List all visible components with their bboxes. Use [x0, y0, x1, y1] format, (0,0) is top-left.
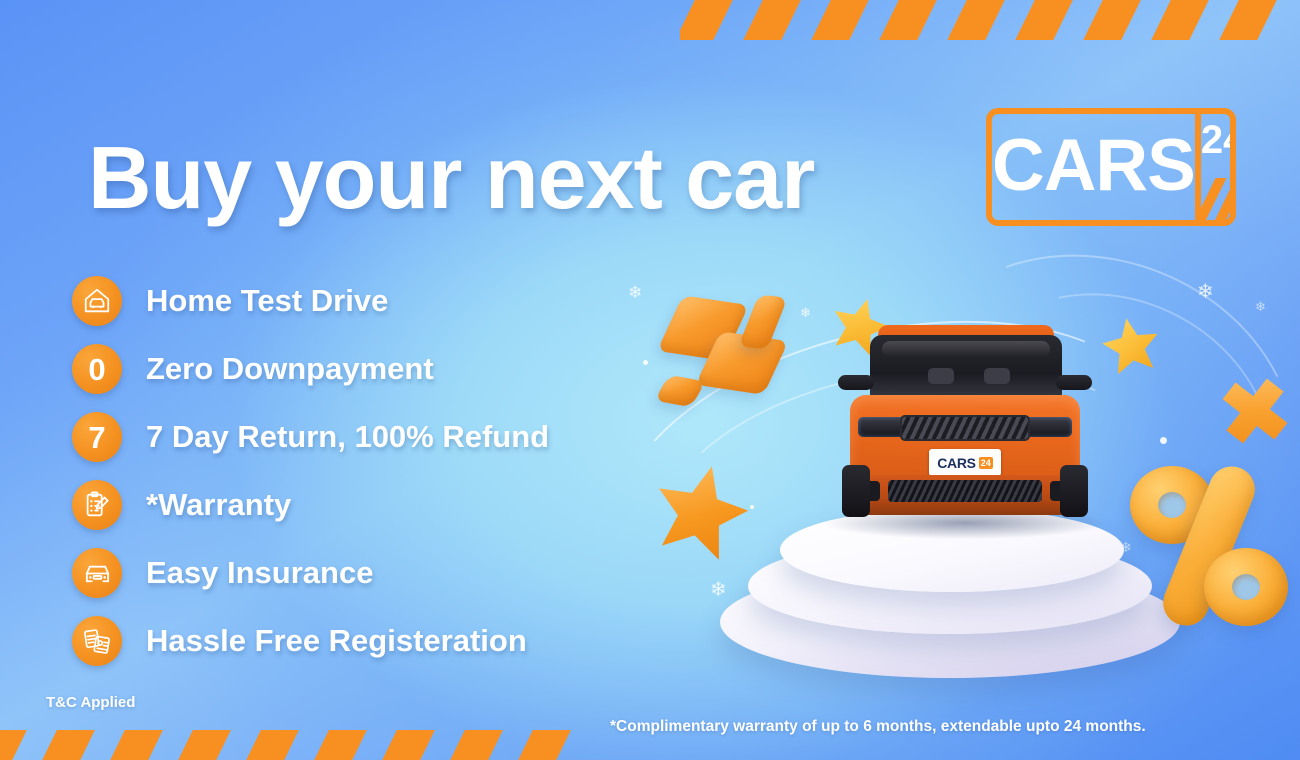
car-front-icon — [72, 548, 122, 598]
snowflake-icon: ❄ — [1255, 300, 1266, 313]
car-mirror-left — [838, 375, 874, 390]
list-item-label: Home Test Drive — [146, 283, 388, 319]
car-lower-grille — [888, 480, 1042, 502]
license-plate-number: 24 — [979, 457, 993, 469]
list-item: Hassle Free Registeration — [72, 613, 549, 669]
documents-icon — [72, 616, 122, 666]
sparkle-dot — [1160, 437, 1167, 444]
snowflake-icon: ❄ — [628, 284, 642, 301]
list-item-label: Easy Insurance — [146, 555, 373, 591]
list-item: Home Test Drive — [72, 273, 549, 329]
percent-symbol-3d — [1128, 462, 1288, 630]
list-item: 7 7 Day Return, 100% Refund — [72, 409, 549, 465]
advertisement-banner: Buy your next car CARS 24 Home Test Driv… — [0, 0, 1300, 760]
seven-badge-icon: 7 — [72, 412, 122, 462]
badge-value: 7 — [88, 422, 105, 453]
snowflake-icon: ❄ — [1197, 282, 1214, 302]
badge-value: 0 — [88, 354, 105, 385]
list-item-label: Zero Downpayment — [146, 351, 434, 387]
car-headrest — [984, 368, 1010, 384]
list-item-label: 7 Day Return, 100% Refund — [146, 419, 549, 455]
snowflake-icon: ❄ — [800, 306, 811, 319]
car-tyre-left — [842, 465, 870, 517]
car-grille — [900, 415, 1030, 441]
diagonal-stripes-bottom-left — [0, 730, 588, 760]
car-tyre-right — [1060, 465, 1088, 517]
license-plate-word: CARS — [937, 455, 975, 471]
license-plate: CARS 24 — [929, 449, 1001, 476]
list-item-label: Hassle Free Registeration — [146, 623, 527, 659]
feature-list: Home Test Drive 0 Zero Downpayment 7 7 D… — [72, 273, 549, 681]
windshield-glare — [882, 341, 1050, 357]
hero-scene: ❄ ❄ ❄ ❄ ❄ ❄ — [600, 0, 1300, 760]
orange-suv: CARS 24 — [836, 325, 1094, 537]
sparkle-dot — [643, 360, 648, 365]
terms-label: T&C Applied — [46, 694, 135, 711]
car-mirror-right — [1056, 375, 1092, 390]
car-headrest — [928, 368, 954, 384]
home-car-icon — [72, 276, 122, 326]
list-item: Easy Insurance — [72, 545, 549, 601]
clipboard-pen-icon — [72, 480, 122, 530]
list-item: *Warranty — [72, 477, 549, 533]
list-item: 0 Zero Downpayment — [72, 341, 549, 397]
zero-badge-icon: 0 — [72, 344, 122, 394]
disclaimer-text: *Complimentary warranty of up to 6 month… — [610, 718, 1146, 736]
list-item-label: *Warranty — [146, 487, 291, 523]
